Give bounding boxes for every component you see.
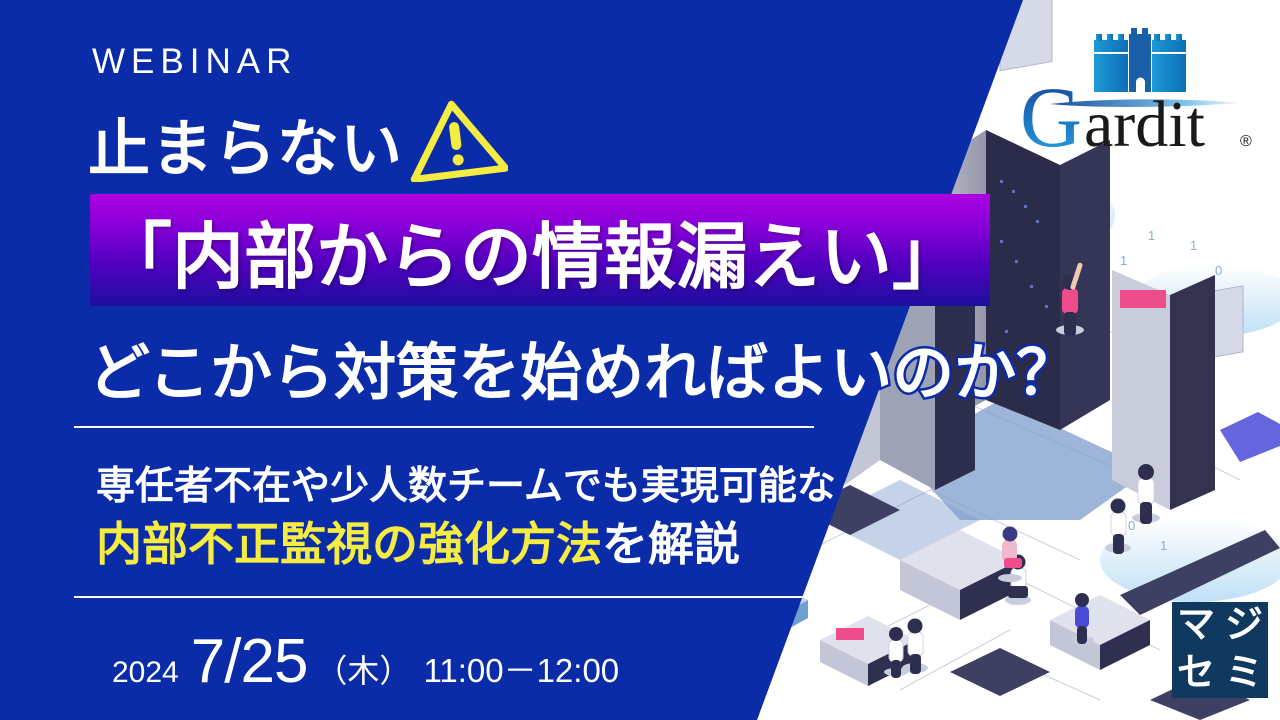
warning-triangle-icon [404,96,508,182]
headline-line-2: 「内部からの情報漏えい」 [100,196,990,304]
svg-text:1: 1 [1160,538,1167,553]
svg-text:0: 0 [1215,263,1222,278]
majisemi-char-4: ミ [1225,654,1263,692]
event-time: 11:00－12:00 [423,644,619,692]
svg-text:1: 1 [1190,238,1197,253]
event-date: 7/25 [191,626,308,697]
gardit-trademark: ® [1240,133,1252,150]
svg-text:1: 1 [1148,228,1155,243]
gardit-logo: G ardit ® [1012,24,1262,164]
divider-top [74,426,814,428]
event-year: 2024 [112,656,179,690]
subtitle-plain-text: を解説 [602,518,740,570]
divider-bottom [74,596,814,598]
event-weekday: （木） [315,646,411,692]
eyebrow-label: WEBINAR [92,42,297,82]
gardit-wordmark-rest: ardit [1084,88,1205,161]
subtitle-line-1: 専任者不在や少人数チームでも実現可能な [96,455,836,511]
subtitle-line-2: 内部不正監視の強化方法を解説 [96,508,740,574]
event-datetime: 2024 7/25 （木） 11:00－12:00 [112,626,619,697]
majisemi-logo: マ ジ セ ミ [1172,602,1268,698]
svg-text:1: 1 [1120,253,1127,268]
headline-line-1: 止まらない [88,98,403,188]
headline-line-3: どこから対策を始めればよいのか？ [88,322,1078,412]
castle-icon [1094,28,1186,92]
webinar-banner: 11 10 11 01 01 01 01 [0,0,1280,720]
majisemi-char-1: マ [1177,606,1215,644]
majisemi-char-3: セ [1177,654,1215,692]
majisemi-char-2: ジ [1225,606,1263,644]
gardit-wordmark-g: G [1020,69,1082,164]
subtitle-accent-text: 内部不正監視の強化方法 [96,518,602,570]
